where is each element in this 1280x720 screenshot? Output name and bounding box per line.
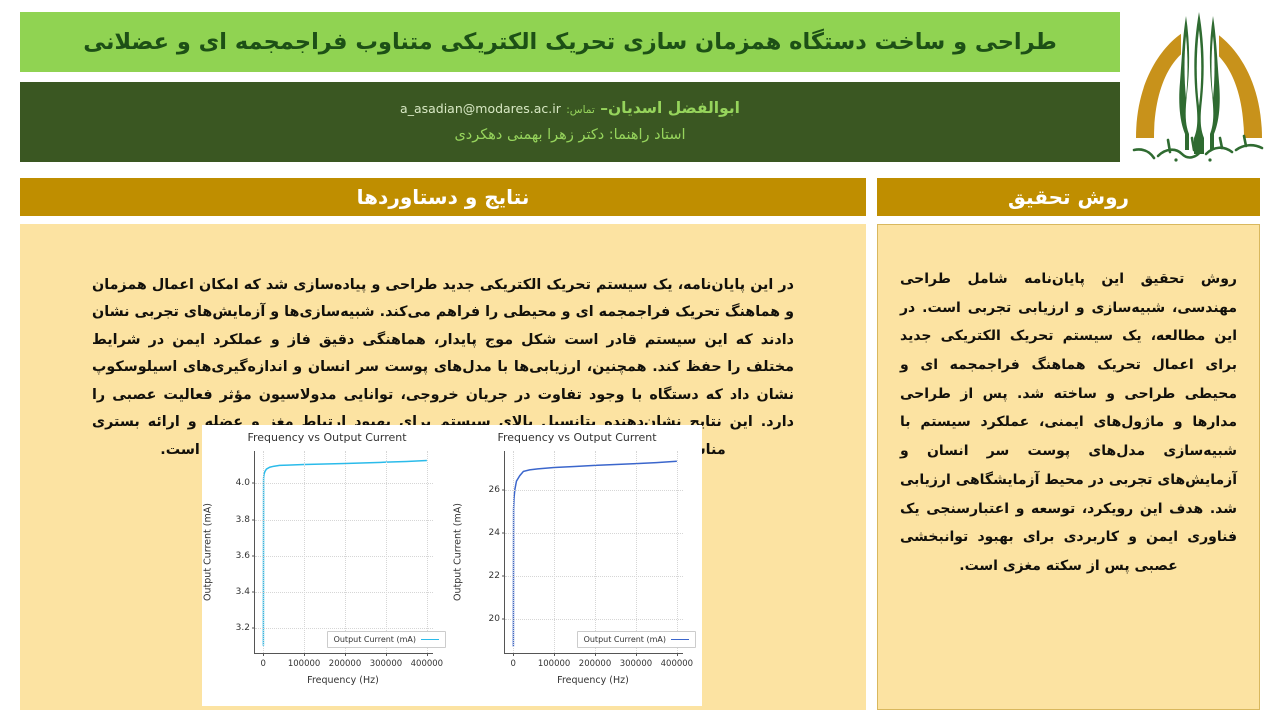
chart-left-ylabel: Output Current (mA)	[453, 503, 464, 601]
results-figure: Frequency vs Output Current Output Curre…	[202, 425, 702, 706]
author-line: ابوالفضل اسدیان– تماس: a_asadian@modares…	[400, 97, 740, 120]
x-axis-tick-mark	[345, 653, 346, 656]
gridline-vertical	[677, 451, 678, 653]
y-axis-tick-label: 3.8	[236, 515, 250, 525]
results-section-heading-bar: نتایج و دستاوردها	[20, 178, 866, 216]
chart-left: Frequency vs Output Current Output Curre…	[452, 425, 702, 706]
method-body-text: روش تحقیق این پایان‌نامه شامل طراحی مهند…	[900, 265, 1237, 581]
y-axis-tick-label: 22	[489, 571, 500, 581]
gridline-vertical	[513, 451, 514, 653]
chart-left-legend-label: Output Current (mA)	[584, 635, 666, 644]
university-logo	[1124, 8, 1274, 168]
gridline-horizontal	[505, 619, 683, 620]
results-section-panel: در این پایان‌نامه، یک سیستم تحریک الکتری…	[20, 224, 866, 710]
chart-right-series-line	[255, 451, 433, 653]
x-axis-tick-label: 300000	[370, 659, 402, 669]
method-section-heading-bar: روش تحقیق	[877, 178, 1260, 216]
gridline-horizontal	[255, 483, 433, 484]
x-axis-tick-label: 300000	[620, 659, 652, 669]
chart-right-xlabel: Frequency (Hz)	[254, 675, 432, 686]
x-axis-tick-label: 200000	[329, 659, 361, 669]
author-email[interactable]: a_asadian@modares.ac.ir	[400, 100, 561, 119]
results-section-heading: نتایج و دستاوردها	[357, 185, 530, 209]
gridline-vertical	[554, 451, 555, 653]
x-axis-tick-mark	[677, 653, 678, 656]
gridline-vertical	[345, 451, 346, 653]
poster-header: طراحی و ساخت دستگاه همزمان سازی تحریک ال…	[0, 0, 1280, 172]
contact-label: تماس:	[566, 104, 595, 116]
y-axis-tick-mark	[252, 519, 255, 520]
y-axis-tick-label: 20	[489, 614, 500, 624]
y-axis-tick-label: 4.0	[236, 478, 250, 488]
chart-left-title: Frequency vs Output Current	[452, 431, 702, 444]
chart-left-series-line	[505, 451, 683, 653]
x-axis-tick-label: 200000	[579, 659, 611, 669]
chart-left-plot-area: 202224260100000200000300000400000	[504, 451, 683, 654]
y-axis-tick-mark	[252, 483, 255, 484]
method-section-panel: روش تحقیق این پایان‌نامه شامل طراحی مهند…	[877, 224, 1260, 710]
gridline-vertical	[386, 451, 387, 653]
chart-right-plot-area: 3.23.43.63.84.00100000200000300000400000	[254, 451, 433, 654]
y-axis-tick-mark	[502, 532, 505, 533]
gridline-vertical	[636, 451, 637, 653]
gridline-horizontal	[505, 533, 683, 534]
chart-left-legend-swatch	[671, 639, 689, 640]
gridline-horizontal	[255, 628, 433, 629]
x-axis-tick-mark	[595, 653, 596, 656]
gridline-vertical	[595, 451, 596, 653]
y-axis-tick-mark	[502, 575, 505, 576]
y-axis-tick-label: 24	[489, 528, 500, 538]
page-title: طراحی و ساخت دستگاه همزمان سازی تحریک ال…	[83, 29, 1057, 56]
y-axis-tick-label: 3.2	[236, 623, 250, 633]
gridline-vertical	[304, 451, 305, 653]
chart-left-legend: Output Current (mA)	[577, 631, 696, 648]
x-axis-tick-mark	[304, 653, 305, 656]
author-bar: ابوالفضل اسدیان– تماس: a_asadian@modares…	[20, 82, 1120, 162]
method-section-heading: روش تحقیق	[1008, 185, 1129, 209]
x-axis-tick-mark	[554, 653, 555, 656]
x-axis-tick-mark	[636, 653, 637, 656]
chart-right-legend: Output Current (mA)	[327, 631, 446, 648]
x-axis-tick-label: 400000	[661, 659, 693, 669]
author-name: ابوالفضل اسدیان–	[600, 99, 740, 117]
gridline-horizontal	[505, 490, 683, 491]
y-axis-tick-label: 26	[489, 485, 500, 495]
supervisor-line: استاد راهنما: دکتر زهرا بهمنی دهکردی	[454, 125, 685, 147]
y-axis-tick-mark	[502, 618, 505, 619]
x-axis-tick-label: 100000	[538, 659, 570, 669]
chart-right-title: Frequency vs Output Current	[202, 431, 452, 444]
y-axis-tick-mark	[252, 627, 255, 628]
tarbiat-modares-logo-icon	[1124, 8, 1274, 168]
y-axis-tick-label: 3.4	[236, 587, 250, 597]
y-axis-tick-label: 3.6	[236, 551, 250, 561]
chart-right-ylabel: Output Current (mA)	[203, 503, 214, 601]
gridline-horizontal	[255, 556, 433, 557]
gridline-horizontal	[505, 576, 683, 577]
x-axis-tick-mark	[386, 653, 387, 656]
x-axis-tick-label: 0	[510, 659, 515, 669]
poster-title-bar: طراحی و ساخت دستگاه همزمان سازی تحریک ال…	[20, 12, 1120, 72]
chart-right: Frequency vs Output Current Output Curre…	[202, 425, 452, 706]
chart-right-legend-label: Output Current (mA)	[334, 635, 416, 644]
gridline-horizontal	[255, 592, 433, 593]
gridline-vertical	[427, 451, 428, 653]
x-axis-tick-mark	[427, 653, 428, 656]
gridline-horizontal	[255, 520, 433, 521]
chart-right-legend-swatch	[421, 639, 439, 640]
x-axis-tick-mark	[263, 653, 264, 656]
x-axis-tick-label: 100000	[288, 659, 320, 669]
x-axis-tick-mark	[513, 653, 514, 656]
x-axis-tick-label: 0	[260, 659, 265, 669]
y-axis-tick-mark	[502, 489, 505, 490]
chart-left-xlabel: Frequency (Hz)	[504, 675, 682, 686]
y-axis-tick-mark	[252, 591, 255, 592]
x-axis-tick-label: 400000	[411, 659, 443, 669]
y-axis-tick-mark	[252, 555, 255, 556]
gridline-vertical	[263, 451, 264, 653]
